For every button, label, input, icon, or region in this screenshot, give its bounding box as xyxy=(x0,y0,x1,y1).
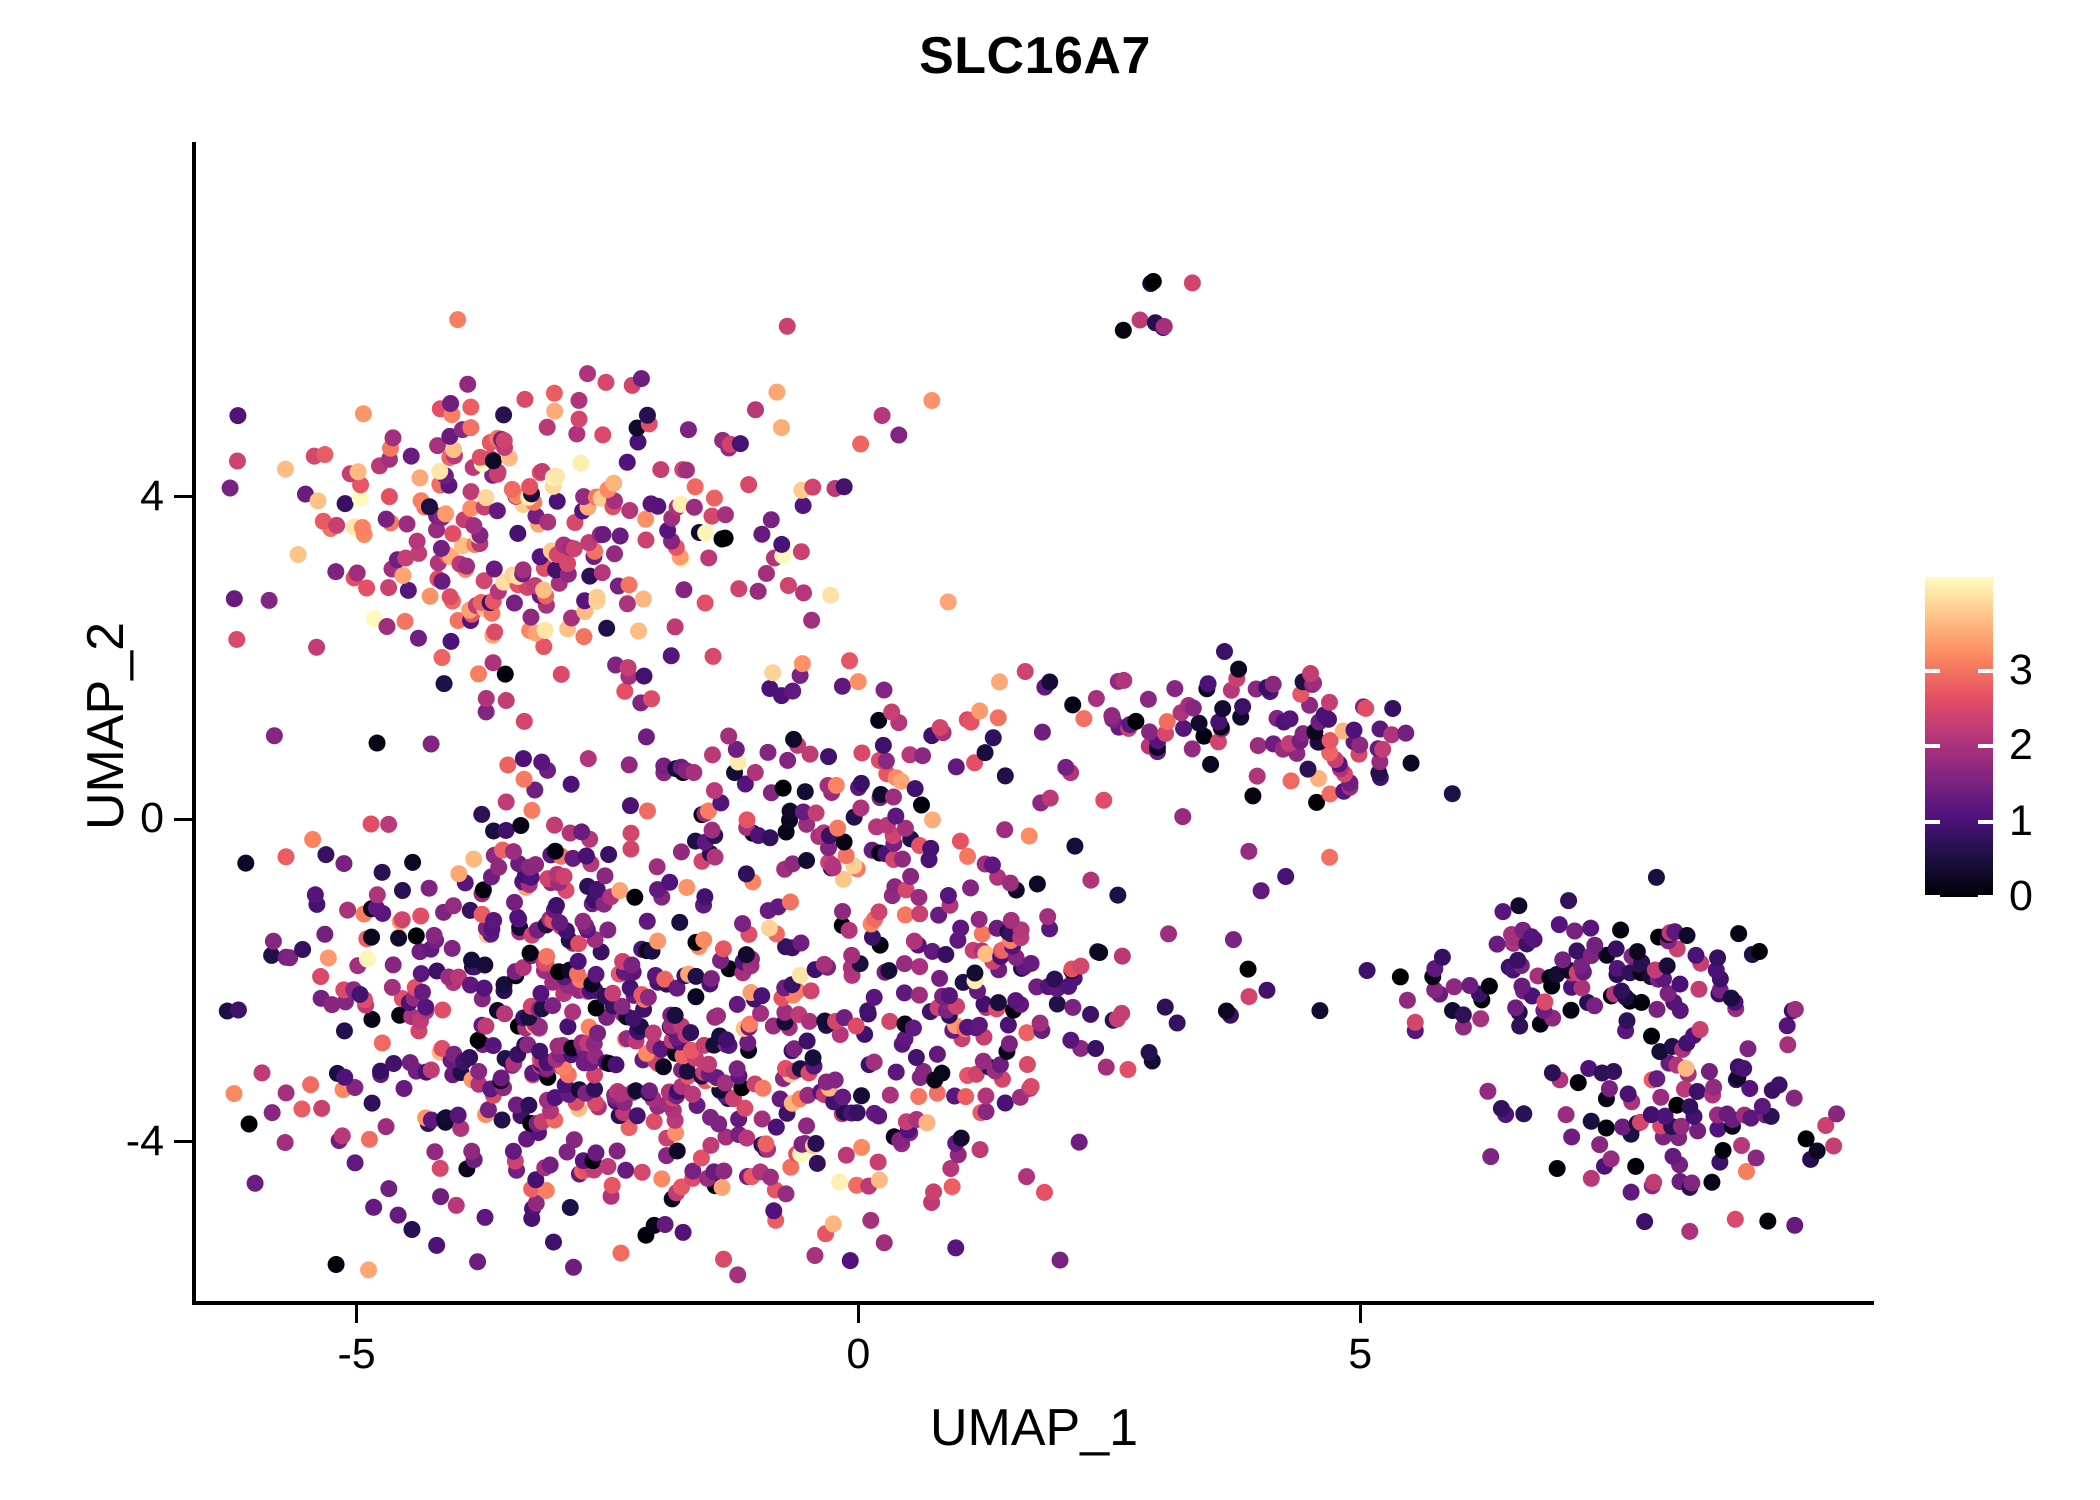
scatter-point xyxy=(1687,947,1704,964)
scatter-point xyxy=(977,744,994,761)
scatter-point xyxy=(1446,978,1463,995)
scatter-point xyxy=(738,1130,755,1147)
scatter-point xyxy=(849,1104,866,1121)
scatter-point xyxy=(1681,1223,1698,1240)
scatter-point xyxy=(1554,951,1571,968)
scatter-point xyxy=(385,956,402,973)
scatter-point xyxy=(874,407,891,424)
scatter-point xyxy=(426,927,443,944)
scatter-point xyxy=(1591,1136,1608,1153)
scatter-point xyxy=(349,565,366,582)
scatter-point xyxy=(883,704,900,721)
scatter-point xyxy=(533,754,550,771)
scatter-point xyxy=(739,1034,756,1051)
scatter-point xyxy=(875,682,892,699)
scatter-point xyxy=(720,728,737,745)
scatter-point xyxy=(1549,1160,1566,1177)
scatter-point xyxy=(1029,875,1046,892)
scatter-point xyxy=(336,1022,353,1039)
scatter-point xyxy=(612,1245,629,1262)
scatter-point xyxy=(1021,828,1038,845)
scatter-point xyxy=(1586,937,1603,954)
x-tick-mark xyxy=(857,1305,860,1323)
scatter-point xyxy=(959,848,976,865)
scatter-point xyxy=(304,831,321,848)
scatter-point xyxy=(1828,1105,1845,1122)
scatter-point xyxy=(364,1095,381,1112)
scatter-point xyxy=(996,821,1013,838)
scatter-point xyxy=(230,1002,247,1019)
colorbar-legend: 3210 xyxy=(1925,577,2085,899)
scatter-point xyxy=(911,987,928,1004)
scatter-point xyxy=(409,533,426,550)
scatter-point xyxy=(545,1234,562,1251)
scatter-point xyxy=(686,499,703,516)
scatter-point xyxy=(264,1104,281,1121)
scatter-point xyxy=(359,950,376,967)
scatter-point xyxy=(1489,936,1506,953)
scatter-point xyxy=(1403,755,1420,772)
scatter-point xyxy=(622,797,639,814)
scatter-point xyxy=(1601,1080,1618,1097)
scatter-point xyxy=(459,376,476,393)
scatter-point xyxy=(1705,1079,1722,1096)
scatter-point xyxy=(605,475,622,492)
y-tick-label: -4 xyxy=(44,1120,164,1163)
scatter-point xyxy=(1234,698,1251,715)
scatter-point xyxy=(718,1031,735,1048)
scatter-point xyxy=(696,888,713,905)
scatter-point xyxy=(1282,710,1299,727)
scatter-point xyxy=(565,1259,582,1276)
scatter-point xyxy=(794,655,811,672)
scatter-point xyxy=(622,841,639,858)
scatter-point xyxy=(1455,1006,1472,1023)
scatter-point xyxy=(775,780,792,797)
scatter-point xyxy=(537,622,554,639)
scatter-point xyxy=(729,996,746,1013)
scatter-point xyxy=(1510,897,1527,914)
scatter-point xyxy=(739,811,756,828)
scatter-point xyxy=(1184,740,1201,757)
scatter-point xyxy=(607,1056,624,1073)
scatter-point xyxy=(546,817,563,834)
scatter-point xyxy=(1277,868,1294,885)
scatter-point xyxy=(385,1055,402,1072)
scatter-point xyxy=(403,448,420,465)
scatter-point xyxy=(765,1202,782,1219)
scatter-point xyxy=(380,579,397,596)
scatter-point xyxy=(512,817,529,834)
scatter-point xyxy=(1103,707,1120,724)
scatter-point xyxy=(378,618,395,635)
scatter-point xyxy=(434,573,451,590)
scatter-point xyxy=(355,405,372,422)
scatter-point xyxy=(753,526,770,543)
scatter-point xyxy=(795,497,812,514)
scatter-point xyxy=(709,1007,726,1024)
scatter-point xyxy=(1679,927,1696,944)
scatter-point xyxy=(317,846,334,863)
scatter-point xyxy=(336,1069,353,1086)
scatter-point xyxy=(997,767,1014,784)
scatter-point xyxy=(853,744,870,761)
scatter-point xyxy=(1321,849,1338,866)
scatter-point xyxy=(1719,1106,1736,1123)
scatter-point xyxy=(843,947,860,964)
scatter-point xyxy=(381,488,398,505)
scatter-point xyxy=(888,1064,905,1081)
scatter-point xyxy=(1202,756,1219,773)
scatter-point xyxy=(717,530,734,547)
scatter-point xyxy=(984,857,1001,874)
scatter-point xyxy=(442,395,459,412)
scatter-point xyxy=(506,595,523,612)
scatter-point xyxy=(505,1143,522,1160)
scatter-point xyxy=(1715,1142,1732,1159)
scatter-point xyxy=(802,746,819,763)
scatter-point xyxy=(394,911,411,928)
scatter-point xyxy=(612,527,629,544)
scatter-point xyxy=(1614,1119,1631,1136)
scatter-point xyxy=(882,1087,899,1104)
scatter-point xyxy=(773,536,790,553)
scatter-point xyxy=(253,1064,270,1081)
scatter-point xyxy=(354,519,371,536)
scatter-point xyxy=(1623,1184,1640,1201)
scatter-point xyxy=(1692,1021,1709,1038)
scatter-point xyxy=(1620,1085,1637,1102)
scatter-point xyxy=(328,517,345,534)
scatter-point xyxy=(411,469,428,486)
scatter-point xyxy=(485,1037,502,1054)
scatter-point xyxy=(422,588,439,605)
scatter-point xyxy=(1000,1017,1017,1034)
scatter-point xyxy=(465,517,482,534)
scatter-point xyxy=(1568,942,1585,959)
scatter-point xyxy=(549,493,566,510)
scatter-point xyxy=(1072,958,1089,975)
scatter-point xyxy=(1643,1028,1660,1045)
scatter-point xyxy=(763,511,780,528)
scatter-point xyxy=(1733,1137,1750,1154)
scatter-point xyxy=(829,820,846,837)
scatter-point xyxy=(1145,273,1162,290)
scatter-point xyxy=(1618,1012,1635,1029)
scatter-point xyxy=(1551,916,1568,933)
scatter-point xyxy=(597,374,614,391)
scatter-point xyxy=(684,1086,701,1103)
scatter-point xyxy=(878,753,895,770)
scatter-point xyxy=(1536,993,1553,1010)
scatter-point xyxy=(871,1172,888,1189)
scatter-point xyxy=(1730,925,1747,942)
scatter-point xyxy=(1225,931,1242,948)
scatter-point xyxy=(1087,1040,1104,1057)
scatter-point xyxy=(1095,792,1112,809)
scatter-point xyxy=(1018,1168,1035,1185)
scatter-point xyxy=(428,1237,445,1254)
scatter-point xyxy=(515,750,532,767)
scatter-point xyxy=(952,833,969,850)
scatter-point xyxy=(1253,882,1270,899)
scatter-point xyxy=(639,913,656,930)
scatter-point xyxy=(940,593,957,610)
scatter-point xyxy=(768,1119,785,1136)
colorbar-tick-label: 2 xyxy=(2009,724,2033,767)
scatter-point xyxy=(1636,1213,1653,1230)
scatter-point xyxy=(1444,785,1461,802)
scatter-point xyxy=(890,427,907,444)
scatter-point xyxy=(1039,908,1056,925)
scatter-point xyxy=(629,1107,646,1124)
scatter-point xyxy=(521,478,538,495)
scatter-point xyxy=(1407,1014,1424,1031)
scatter-point xyxy=(496,432,513,449)
scatter-point xyxy=(732,435,749,452)
scatter-point xyxy=(1786,1090,1803,1107)
scatter-point xyxy=(374,864,391,881)
scatter-point xyxy=(277,1134,294,1151)
scatter-point xyxy=(1515,1105,1532,1122)
scatter-point xyxy=(477,1018,494,1035)
scatter-point xyxy=(265,933,282,950)
scatter-point xyxy=(1689,1083,1706,1100)
scatter-point xyxy=(1583,1113,1600,1130)
scatter-point xyxy=(1041,673,1058,690)
scatter-point xyxy=(604,985,621,1002)
scatter-point xyxy=(1216,643,1233,660)
scatter-point xyxy=(925,1183,942,1200)
scatter-point xyxy=(1479,1083,1496,1100)
scatter-point xyxy=(962,879,979,896)
scatter-point xyxy=(462,399,479,416)
scatter-point xyxy=(1091,944,1108,961)
scatter-point xyxy=(432,1160,449,1177)
scatter-point xyxy=(309,492,326,509)
x-tick-label: 5 xyxy=(1290,1333,1430,1376)
scatter-point xyxy=(522,609,539,626)
scatter-points-layer xyxy=(196,142,1872,1303)
scatter-point xyxy=(828,777,845,794)
scatter-point xyxy=(313,1100,330,1117)
scatter-point xyxy=(747,401,764,418)
scatter-point xyxy=(1283,772,1300,789)
scatter-point xyxy=(617,1162,634,1179)
scatter-point xyxy=(1582,920,1599,937)
scatter-point xyxy=(360,1261,377,1278)
scatter-point xyxy=(1140,691,1157,708)
scatter-point xyxy=(862,1212,879,1229)
scatter-point xyxy=(885,788,902,805)
scatter-point xyxy=(734,915,751,932)
scatter-point xyxy=(412,908,429,925)
scatter-point xyxy=(485,654,502,671)
scatter-point xyxy=(1523,928,1540,945)
scatter-point xyxy=(1563,1002,1580,1019)
scatter-point xyxy=(715,1251,732,1268)
scatter-point xyxy=(1127,713,1144,730)
scatter-point xyxy=(462,419,479,436)
scatter-point xyxy=(714,1179,731,1196)
scatter-point xyxy=(990,709,1007,726)
scatter-point xyxy=(335,855,352,872)
x-tick-label: 0 xyxy=(788,1333,928,1376)
scatter-point xyxy=(703,970,720,987)
scatter-point xyxy=(1007,992,1024,1009)
scatter-point xyxy=(652,461,669,478)
scatter-point xyxy=(1399,992,1416,1009)
colorbar-tick-label: 1 xyxy=(2009,800,2033,843)
scatter-point xyxy=(403,1221,420,1238)
scatter-point xyxy=(498,793,515,810)
colorbar-tick-mark xyxy=(1925,744,1940,748)
scatter-point xyxy=(520,1097,537,1114)
scatter-point xyxy=(910,1088,927,1105)
scatter-point xyxy=(1573,979,1590,996)
scatter-point xyxy=(548,468,565,485)
scatter-point xyxy=(1109,887,1126,904)
scatter-point xyxy=(911,905,928,922)
scatter-point xyxy=(442,588,459,605)
scatter-point xyxy=(635,590,652,607)
scatter-point xyxy=(747,764,764,781)
scatter-point xyxy=(1032,1015,1049,1032)
scatter-point xyxy=(228,631,245,648)
scatter-point xyxy=(667,618,684,635)
scatter-point xyxy=(1825,1137,1842,1154)
scatter-point xyxy=(413,965,430,982)
scatter-point xyxy=(448,1197,465,1214)
scatter-point xyxy=(623,825,640,842)
scatter-point xyxy=(538,948,555,965)
scatter-point xyxy=(972,1141,989,1158)
scatter-point xyxy=(971,703,988,720)
scatter-point xyxy=(1357,700,1374,717)
scatter-point xyxy=(804,479,821,496)
scatter-point xyxy=(675,1224,692,1241)
scatter-point xyxy=(350,463,367,480)
scatter-point xyxy=(1184,274,1201,291)
scatter-point xyxy=(896,984,913,1001)
scatter-point xyxy=(470,1063,487,1080)
scatter-point xyxy=(1141,1044,1158,1061)
scatter-point xyxy=(1664,1148,1681,1165)
scatter-point xyxy=(465,851,482,868)
scatter-point xyxy=(661,874,678,891)
scatter-point xyxy=(1160,925,1177,942)
scatter-point xyxy=(241,1116,258,1133)
scatter-point xyxy=(1771,1076,1788,1093)
scatter-point xyxy=(798,1117,815,1134)
scatter-point xyxy=(384,429,401,446)
x-tick-mark xyxy=(1359,1305,1362,1323)
scatter-point xyxy=(687,478,704,495)
scatter-point xyxy=(580,750,597,767)
scatter-point xyxy=(444,525,461,542)
scatter-point xyxy=(822,587,839,604)
scatter-point xyxy=(1057,759,1074,776)
scatter-point xyxy=(570,392,587,409)
scatter-point xyxy=(971,911,988,928)
scatter-point xyxy=(974,925,991,942)
scatter-point xyxy=(402,1054,419,1071)
scatter-point xyxy=(571,411,588,428)
scatter-point xyxy=(1690,981,1707,998)
scatter-point xyxy=(400,582,417,599)
scatter-point xyxy=(729,1266,746,1283)
scatter-point xyxy=(374,1034,391,1051)
scatter-point xyxy=(1482,1148,1499,1165)
scatter-point xyxy=(369,735,386,752)
scatter-point xyxy=(496,1005,513,1022)
scatter-point xyxy=(485,912,502,929)
scatter-point xyxy=(1359,962,1376,979)
scatter-point xyxy=(461,1049,478,1066)
scatter-point xyxy=(1175,720,1192,737)
scatter-point xyxy=(977,945,994,962)
scatter-point xyxy=(1321,694,1338,711)
scatter-point xyxy=(574,913,591,930)
colorbar-tick-mark xyxy=(1925,669,1940,673)
scatter-point xyxy=(940,887,957,904)
scatter-point xyxy=(779,752,796,769)
scatter-point xyxy=(682,1024,699,1041)
scatter-point xyxy=(620,659,637,676)
scatter-point xyxy=(1513,978,1530,995)
scatter-point xyxy=(516,771,533,788)
scatter-point xyxy=(740,476,757,493)
scatter-point xyxy=(637,511,654,528)
scatter-point xyxy=(320,949,337,966)
scatter-point xyxy=(704,746,721,763)
scatter-point xyxy=(396,1080,413,1097)
scatter-point xyxy=(1250,737,1267,754)
scatter-point xyxy=(1586,997,1603,1014)
scatter-point xyxy=(1042,790,1059,807)
scatter-point xyxy=(834,678,851,695)
scatter-point xyxy=(539,514,556,531)
x-tick-mark xyxy=(355,1305,358,1323)
scatter-point xyxy=(1645,1174,1662,1191)
scatter-point xyxy=(229,452,246,469)
scatter-point xyxy=(505,843,522,860)
scatter-point xyxy=(1345,722,1362,739)
scatter-point xyxy=(499,756,516,773)
scatter-point xyxy=(1311,1002,1328,1019)
scatter-point xyxy=(1191,715,1208,732)
scatter-point xyxy=(478,690,495,707)
scatter-point xyxy=(978,1103,995,1120)
scatter-point xyxy=(663,647,680,664)
scatter-point xyxy=(1132,312,1149,329)
scatter-point xyxy=(870,903,887,920)
scatter-point xyxy=(433,540,450,557)
scatter-point xyxy=(923,392,940,409)
scatter-point xyxy=(643,690,660,707)
scatter-point xyxy=(759,744,776,761)
scatter-point xyxy=(1570,1074,1587,1091)
scatter-point xyxy=(825,1215,842,1232)
scatter-point xyxy=(553,666,570,683)
scatter-point xyxy=(764,664,781,681)
scatter-point xyxy=(277,461,294,478)
scatter-point xyxy=(600,846,617,863)
scatter-point xyxy=(702,1137,719,1154)
scatter-point xyxy=(339,902,356,919)
umap-feature-plot: SLC16A7 40-4-505 UMAP_1 UMAP_2 3210 xyxy=(0,0,2100,1500)
scatter-point xyxy=(1002,875,1019,892)
